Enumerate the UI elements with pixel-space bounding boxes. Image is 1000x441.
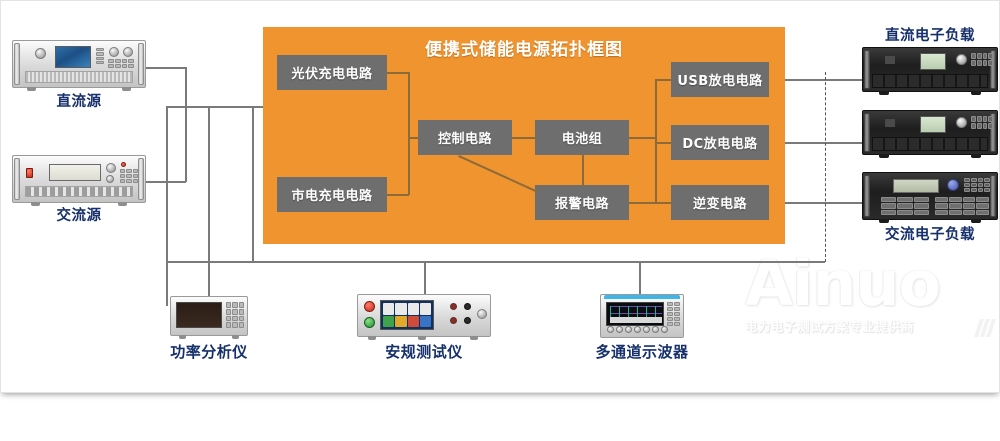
power-analyzer-icon [170, 296, 248, 336]
block-pv-charge[interactable]: 光伏充电电路 [277, 55, 387, 90]
wire-tester-drop [252, 106, 254, 261]
wire-discharge-bus [655, 79, 657, 203]
diagram-canvas: Ainuo 电力电子测试方案专业提供商 便携式储能电源拓扑框图 光伏充电电路 市… [0, 0, 1000, 441]
ac-source-label: 交流源 [12, 204, 146, 225]
block-dc-discharge[interactable]: DC放电电路 [671, 125, 769, 160]
wire-source-bus [166, 106, 264, 108]
ac-electronic-load-icon [862, 172, 998, 220]
block-inverter-label: 逆变电路 [693, 193, 747, 212]
wire-control-battery [512, 137, 536, 139]
wire-alarm-inverter [629, 202, 656, 204]
wire-bus-dc [655, 142, 672, 144]
block-control-label: 控制电路 [438, 128, 492, 147]
dc-electronic-load-icon-2 [862, 110, 998, 155]
block-battery-pack-label: 电池组 [562, 128, 603, 147]
dc-load-label: 直流电子负载 [860, 24, 1000, 45]
wire-bus-left-drop [166, 106, 168, 306]
wire-scope-stem [639, 261, 641, 294]
safety-tester-icon [357, 294, 491, 337]
wire-bus-usb [655, 79, 672, 81]
block-control[interactable]: 控制电路 [418, 120, 512, 155]
wire-analyzer-stem [208, 261, 210, 296]
block-alarm-label: 报警电路 [555, 193, 609, 212]
isolation-boundary-line [825, 72, 826, 262]
oscilloscope-icon [600, 294, 684, 338]
wire-pv-out [387, 72, 409, 74]
block-dc-discharge-label: DC放电电路 [682, 133, 757, 152]
dc-power-supply-icon [12, 40, 146, 88]
safety-tester-label: 安规测试仪 [365, 341, 483, 362]
dc-electronic-load-icon-1 [862, 47, 998, 92]
block-mains-charge[interactable]: 市电充电电路 [277, 177, 387, 212]
block-mains-charge-label: 市电充电电路 [291, 185, 372, 204]
wire-bus-inverter [655, 202, 672, 204]
wire-control-alarm [458, 155, 537, 192]
block-pv-charge-label: 光伏充电电路 [291, 63, 372, 82]
block-alarm[interactable]: 报警电路 [535, 185, 629, 220]
wire-dc-source-drop [185, 67, 187, 108]
power-analyzer-label: 功率分析仪 [150, 341, 268, 362]
ac-power-source-icon [12, 155, 146, 203]
wire-battery-out [629, 137, 656, 139]
dc-source-label: 直流源 [12, 90, 146, 111]
block-battery-pack[interactable]: 电池组 [535, 120, 629, 155]
wire-charge-bus [408, 72, 410, 195]
wire-ac-source-rise [185, 107, 187, 182]
wire-bottom-bus [166, 261, 825, 263]
topology-panel: 便携式储能电源拓扑框图 光伏充电电路 市电充电电路 控制电路 电池组 报警电路 … [263, 27, 785, 244]
wire-dc-source-out [146, 67, 186, 69]
wire-bus-to-control [408, 137, 419, 139]
block-usb-discharge-label: USB放电电路 [677, 70, 762, 89]
block-inverter[interactable]: 逆变电路 [671, 185, 769, 220]
wire-battery-alarm [582, 155, 584, 186]
oscilloscope-label: 多通道示波器 [583, 341, 701, 362]
ac-load-label: 交流电子负载 [860, 223, 1000, 244]
wire-mains-out [387, 194, 409, 196]
block-usb-discharge[interactable]: USB放电电路 [671, 62, 769, 97]
wire-tester-stem [424, 261, 426, 296]
